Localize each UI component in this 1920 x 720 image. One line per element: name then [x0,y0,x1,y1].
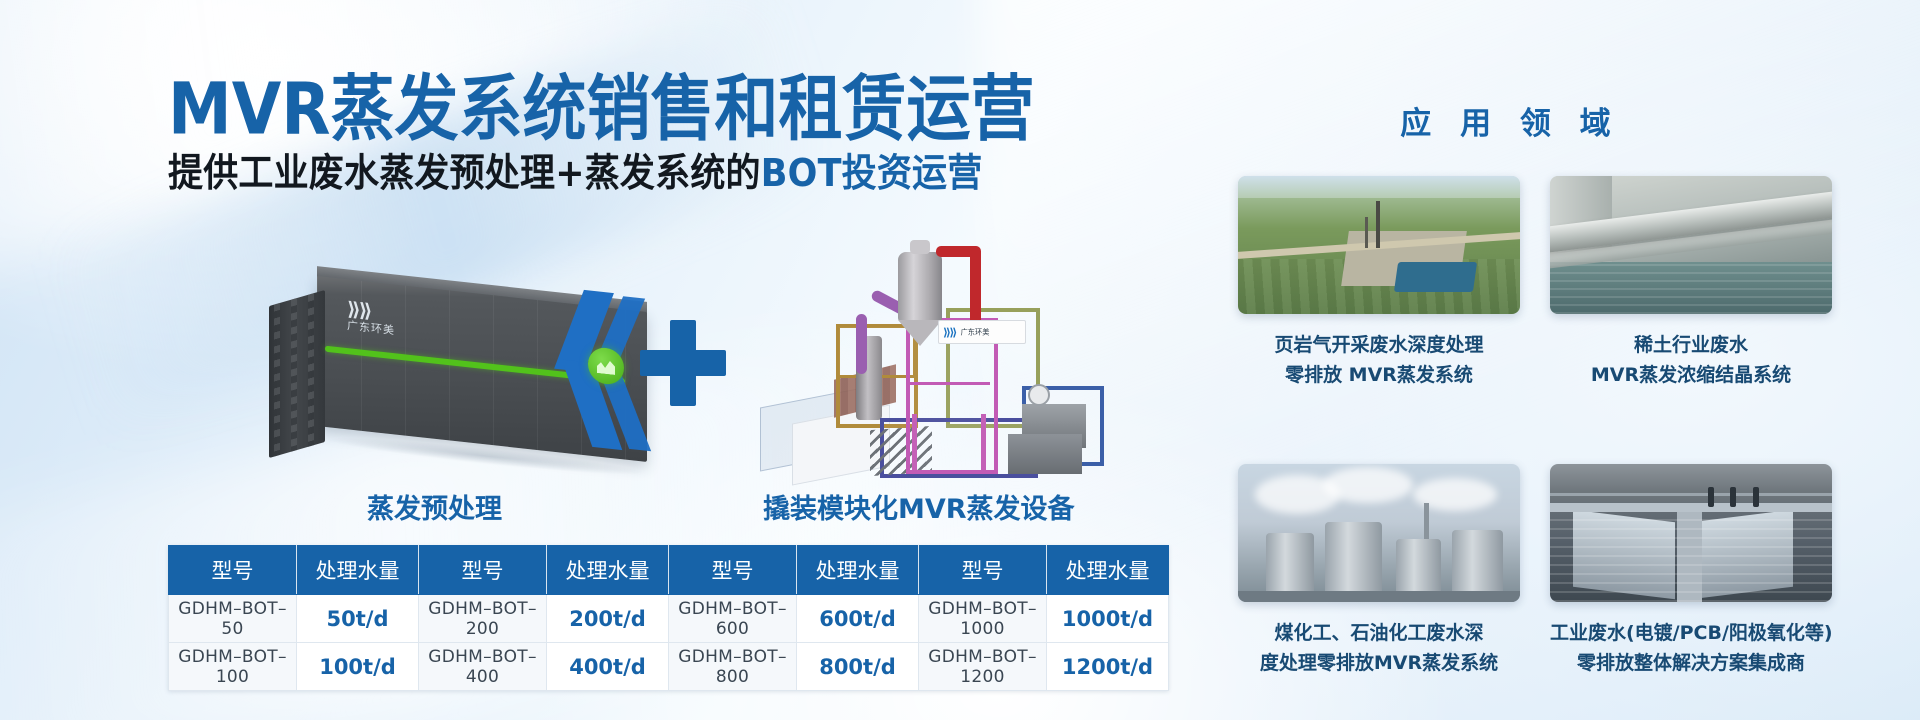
table-cell-model: GDHM–BOT–600 [669,595,797,643]
table-header-cell: 型号 [919,546,1047,595]
pipeline-channel-photo [1550,176,1832,314]
application-card-caption: 煤化工、石油化工废水深 度处理零排放MVR蒸发系统 [1238,618,1520,678]
table-cell-capacity: 200t/d [547,595,669,643]
coal-chemical-plant-photo [1238,464,1520,602]
table-cell-capacity: 400t/d [547,643,669,691]
table-row: GDHM–BOT–50 50t/d GDHM–BOT–200 200t/d GD… [169,595,1169,643]
table-cell-capacity: 600t/d [797,595,919,643]
table-cell-capacity: 1200t/d [1047,643,1169,691]
door-rib [291,298,297,452]
application-card-rare-earth[interactable]: 稀土行业废水 MVR蒸发浓缩结晶系统 [1550,176,1832,390]
application-card-shale-gas[interactable]: 页岩气开采废水深度处理 零排放 MVR蒸发系统 [1238,176,1520,390]
table-cell-capacity: 1000t/d [1047,595,1169,643]
table-cell-model: GDHM–BOT–800 [669,643,797,691]
door-rib [274,303,280,457]
banner-left-column: MVR蒸发系统销售和租赁运营 提供工业废水蒸发预处理+蒸发系统的BOT投资运营 … [0,0,1180,720]
application-card-industrial-wastewater[interactable]: 工业废水(电镀/PCB/阳极氧化等) 零排放整体解决方案集成商 [1550,464,1832,678]
skid-pressure-gauge-icon [1028,384,1050,406]
table-cell-model: GDHM–BOT–200 [419,595,547,643]
banner-subtitle: 提供工业废水蒸发预处理+蒸发系统的BOT投资运营 [168,155,982,194]
application-card-caption: 稀土行业废水 MVR蒸发浓缩结晶系统 [1550,330,1832,390]
table-cell-model: GDHM–BOT–1200 [919,643,1047,691]
table-header-cell: 型号 [419,546,547,595]
table-cell-capacity: 50t/d [297,595,419,643]
skid-vessel-cap [910,240,930,254]
model-capacity-table: 型号 处理水量 型号 处理水量 型号 处理水量 型号 处理水量 GDHM–BOT… [168,545,1169,691]
table-cell-capacity: 100t/d [297,643,419,691]
shale-gas-field-photo [1238,176,1520,314]
caption-line-2: 零排放整体解决方案集成商 [1550,648,1832,678]
table-cell-model: GDHM–BOT–400 [419,643,547,691]
skid-pump-skid [1008,434,1082,474]
table-cell-model: GDHM–BOT–100 [169,643,297,691]
caption-line-2: 零排放 MVR蒸发系统 [1238,360,1520,390]
container-end-door [269,290,325,458]
table-header-cell: 处理水量 [547,546,669,595]
banner-subtitle-highlight: BOT投资运营 [761,152,983,196]
wastewater-tanks-photo [1550,464,1832,602]
right-product-caption: 撬装模块化MVR蒸发设备 [763,487,1075,526]
table-header-cell: 型号 [169,546,297,595]
evaporation-pretreatment-container-image: ⟫⟫ 广东环美 [255,288,675,478]
skid-vessel-cone [898,320,942,346]
application-fields-panel: 应 用 领 域 页岩气开采废水深度处理 零排放 MVR蒸发系统 稀土行业废水 M… [1190,0,1920,720]
skid-purple-riser-pipe [856,314,867,374]
skid-brand-signboard: ⟫⟫ 广东环美 [938,320,1026,344]
application-card-coal-chemical[interactable]: 煤化工、石油化工废水深 度处理零排放MVR蒸发系统 [1238,464,1520,678]
application-card-caption: 页岩气开采废水深度处理 零排放 MVR蒸发系统 [1238,330,1520,390]
brand-swoosh-icon: ⟫⟫ [943,326,956,339]
table-header-cell: 处理水量 [1047,546,1169,595]
table-header-cell: 处理水量 [297,546,419,595]
caption-line-1: 稀土行业废水 [1550,330,1832,360]
table-header-cell: 型号 [669,546,797,595]
application-card-caption: 工业废水(电镀/PCB/阳极氧化等) 零排放整体解决方案集成商 [1550,618,1832,678]
mvr-promo-banner: MVR蒸发系统销售和租赁运营 提供工业废水蒸发预处理+蒸发系统的BOT投资运营 … [0,0,1920,720]
caption-line-1: 页岩气开采废水深度处理 [1238,330,1520,360]
table-header-cell: 处理水量 [797,546,919,595]
table-cell-model: GDHM–BOT–50 [169,595,297,643]
table-header-row: 型号 处理水量 型号 处理水量 型号 处理水量 型号 处理水量 [169,546,1169,595]
table-cell-capacity: 800t/d [797,643,919,691]
skid-pink-crossbeam [906,382,990,385]
door-rib [308,293,314,447]
caption-line-2: 度处理零排放MVR蒸发系统 [1238,648,1520,678]
skid-main-separator-vessel [898,252,942,322]
plus-symbol-icon [640,320,726,406]
caption-line-1: 工业废水(电镀/PCB/阳极氧化等) [1550,618,1832,648]
table-cell-model: GDHM–BOT–1000 [919,595,1047,643]
table-row: GDHM–BOT–100 100t/d GDHM–BOT–400 400t/d … [169,643,1169,691]
left-product-caption: 蒸发预处理 [367,487,502,526]
banner-subtitle-prefix: 提供工业废水蒸发预处理+蒸发系统的 [168,152,761,196]
brand-name-label: 广东环美 [960,327,989,337]
caption-line-2: MVR蒸发浓缩结晶系统 [1550,360,1832,390]
application-fields-title: 应 用 领 域 [1190,98,1830,143]
caption-line-1: 煤化工、石油化工废水深 [1238,618,1520,648]
modular-mvr-evaporator-image: ⟫⟫ 广东环美 [760,232,1160,482]
banner-main-title: MVR蒸发系统销售和租赁运营 [168,74,1035,146]
